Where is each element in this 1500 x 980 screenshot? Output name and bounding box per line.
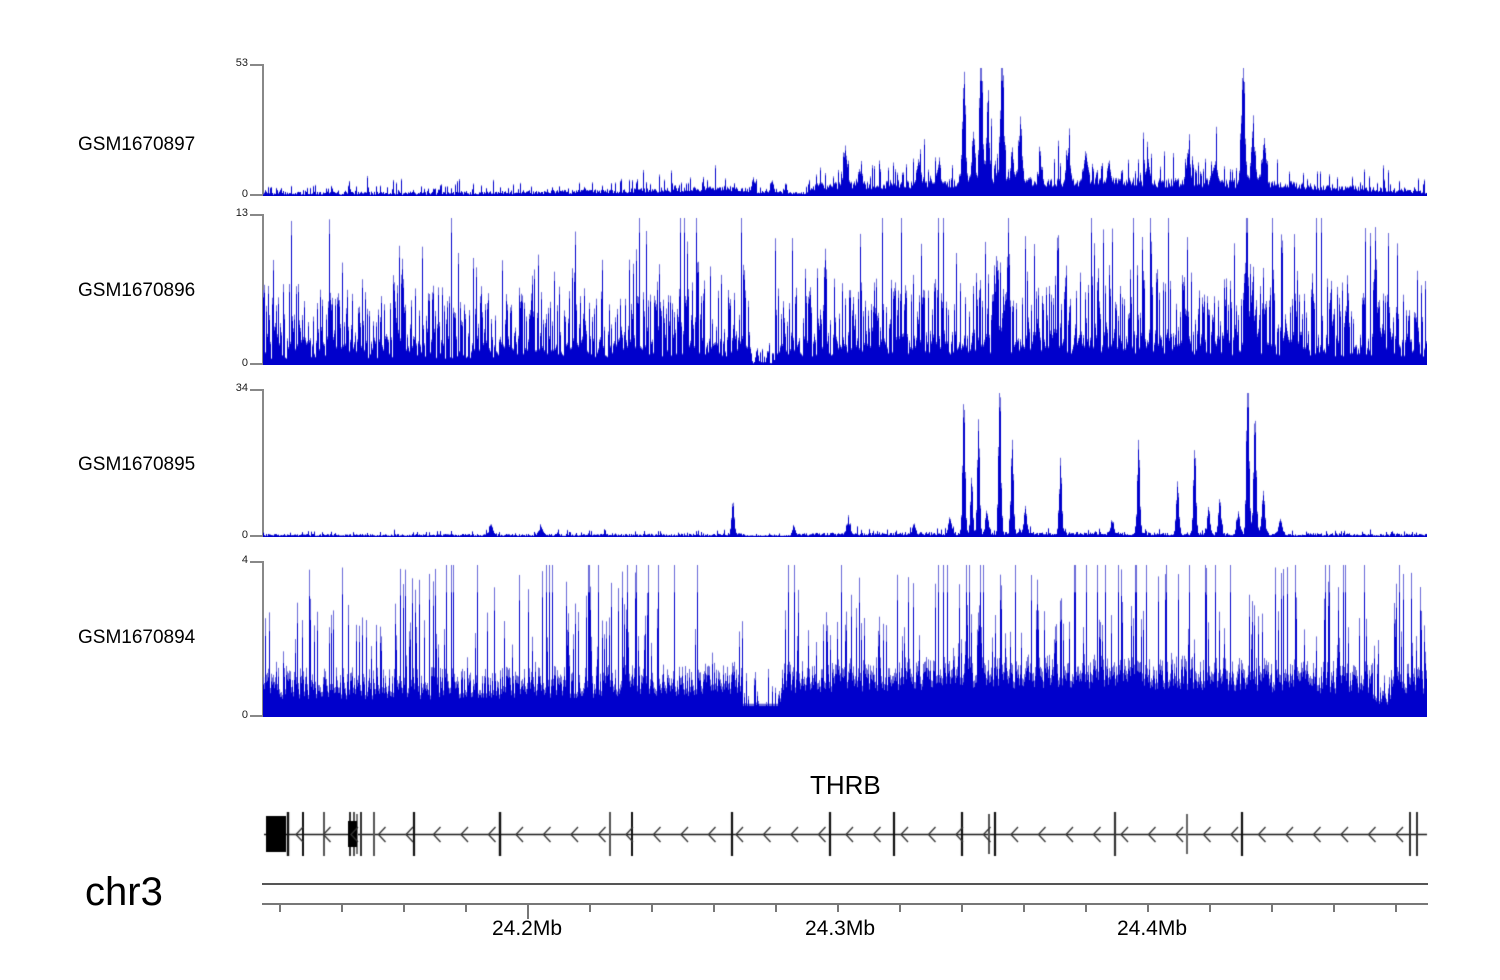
ruler-tick-minor xyxy=(899,903,901,912)
signal-track: GSM1670894 4 0 xyxy=(0,553,1500,728)
axis-tick-max xyxy=(250,389,262,391)
signal-track: GSM1670897 53 0 xyxy=(0,30,1500,198)
ruler-tick-minor xyxy=(1395,903,1397,912)
ruler-tick-minor xyxy=(1023,903,1025,912)
axis-tick-max xyxy=(250,214,262,216)
track-plot xyxy=(263,216,1427,365)
track-label: GSM1670896 xyxy=(78,281,195,300)
ruler-tick-minor xyxy=(589,903,591,912)
ruler-label: 24.2Mb xyxy=(492,918,562,939)
genome-browser: GSM1670897 53 0 GSM1670896 13 0 GSM16708… xyxy=(0,0,1500,980)
ruler-tick-minor xyxy=(1209,903,1211,912)
ruler-tick-minor xyxy=(961,903,963,912)
track-axis-min: 0 xyxy=(208,530,248,541)
track-plot xyxy=(263,66,1427,196)
ruler-tick-minor xyxy=(713,903,715,912)
axis-tick-min xyxy=(250,535,262,537)
track-axis-max: 53 xyxy=(208,58,248,69)
track-axis-min: 0 xyxy=(208,358,248,369)
gene-name-label: THRB xyxy=(810,772,881,798)
ruler-tick-minor xyxy=(465,903,467,912)
ruler-tick-minor xyxy=(837,903,839,912)
ruler-tick-minor xyxy=(1085,903,1087,912)
ruler-tick-minor xyxy=(1333,903,1335,912)
axis-tick-max xyxy=(250,561,262,563)
axis-tick-min xyxy=(250,194,262,196)
gene-track-separator xyxy=(262,883,1428,885)
track-axis-min: 0 xyxy=(208,189,248,200)
ruler-tick-minor xyxy=(403,903,405,912)
track-label: GSM1670895 xyxy=(78,455,195,474)
gene-model[interactable] xyxy=(262,800,1428,868)
signal-track: GSM1670895 34 0 xyxy=(0,380,1500,550)
track-axis-max: 4 xyxy=(208,555,248,566)
ruler-label: 24.3Mb xyxy=(805,918,875,939)
track-plot xyxy=(263,563,1427,717)
ruler-tick-minor xyxy=(341,903,343,912)
axis-tick-min xyxy=(250,363,262,365)
track-label: GSM1670897 xyxy=(78,135,195,154)
track-label: GSM1670894 xyxy=(78,628,195,647)
signal-track: GSM1670896 13 0 xyxy=(0,205,1500,375)
track-plot xyxy=(263,391,1427,537)
chromosome-label: chr3 xyxy=(85,872,163,912)
axis-tick-min xyxy=(250,715,262,717)
ruler-tick-minor xyxy=(1147,903,1149,912)
ruler-tick-minor xyxy=(279,903,281,912)
ruler-label: 24.4Mb xyxy=(1117,918,1187,939)
track-axis-max: 13 xyxy=(208,208,248,219)
ruler-axis-line xyxy=(262,903,1428,905)
ruler-tick-minor xyxy=(651,903,653,912)
ruler-tick-minor xyxy=(1271,903,1273,912)
ruler-tick-minor xyxy=(775,903,777,912)
axis-tick-max xyxy=(250,64,262,66)
track-axis-min: 0 xyxy=(208,710,248,721)
track-axis-max: 34 xyxy=(208,383,248,394)
